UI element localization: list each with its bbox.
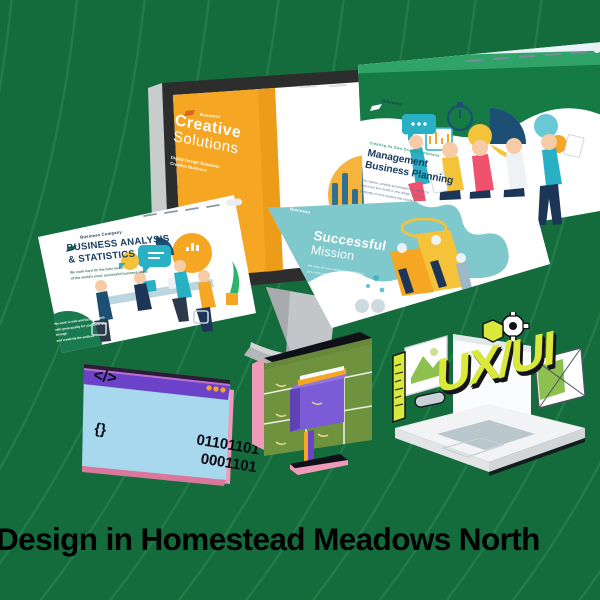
code-chevron-icon: </> (92, 367, 118, 388)
poster-canvas: Business Creative Solutions Digital Desi… (0, 0, 600, 600)
page-title: Design in Homestead Meadows North (0, 515, 600, 563)
filing-cabinet (248, 322, 408, 492)
code-brace-icon: {} (93, 420, 107, 439)
business-analysis-text: BUSINESS ANALYSIS & STATISTICS We work h… (66, 231, 205, 313)
